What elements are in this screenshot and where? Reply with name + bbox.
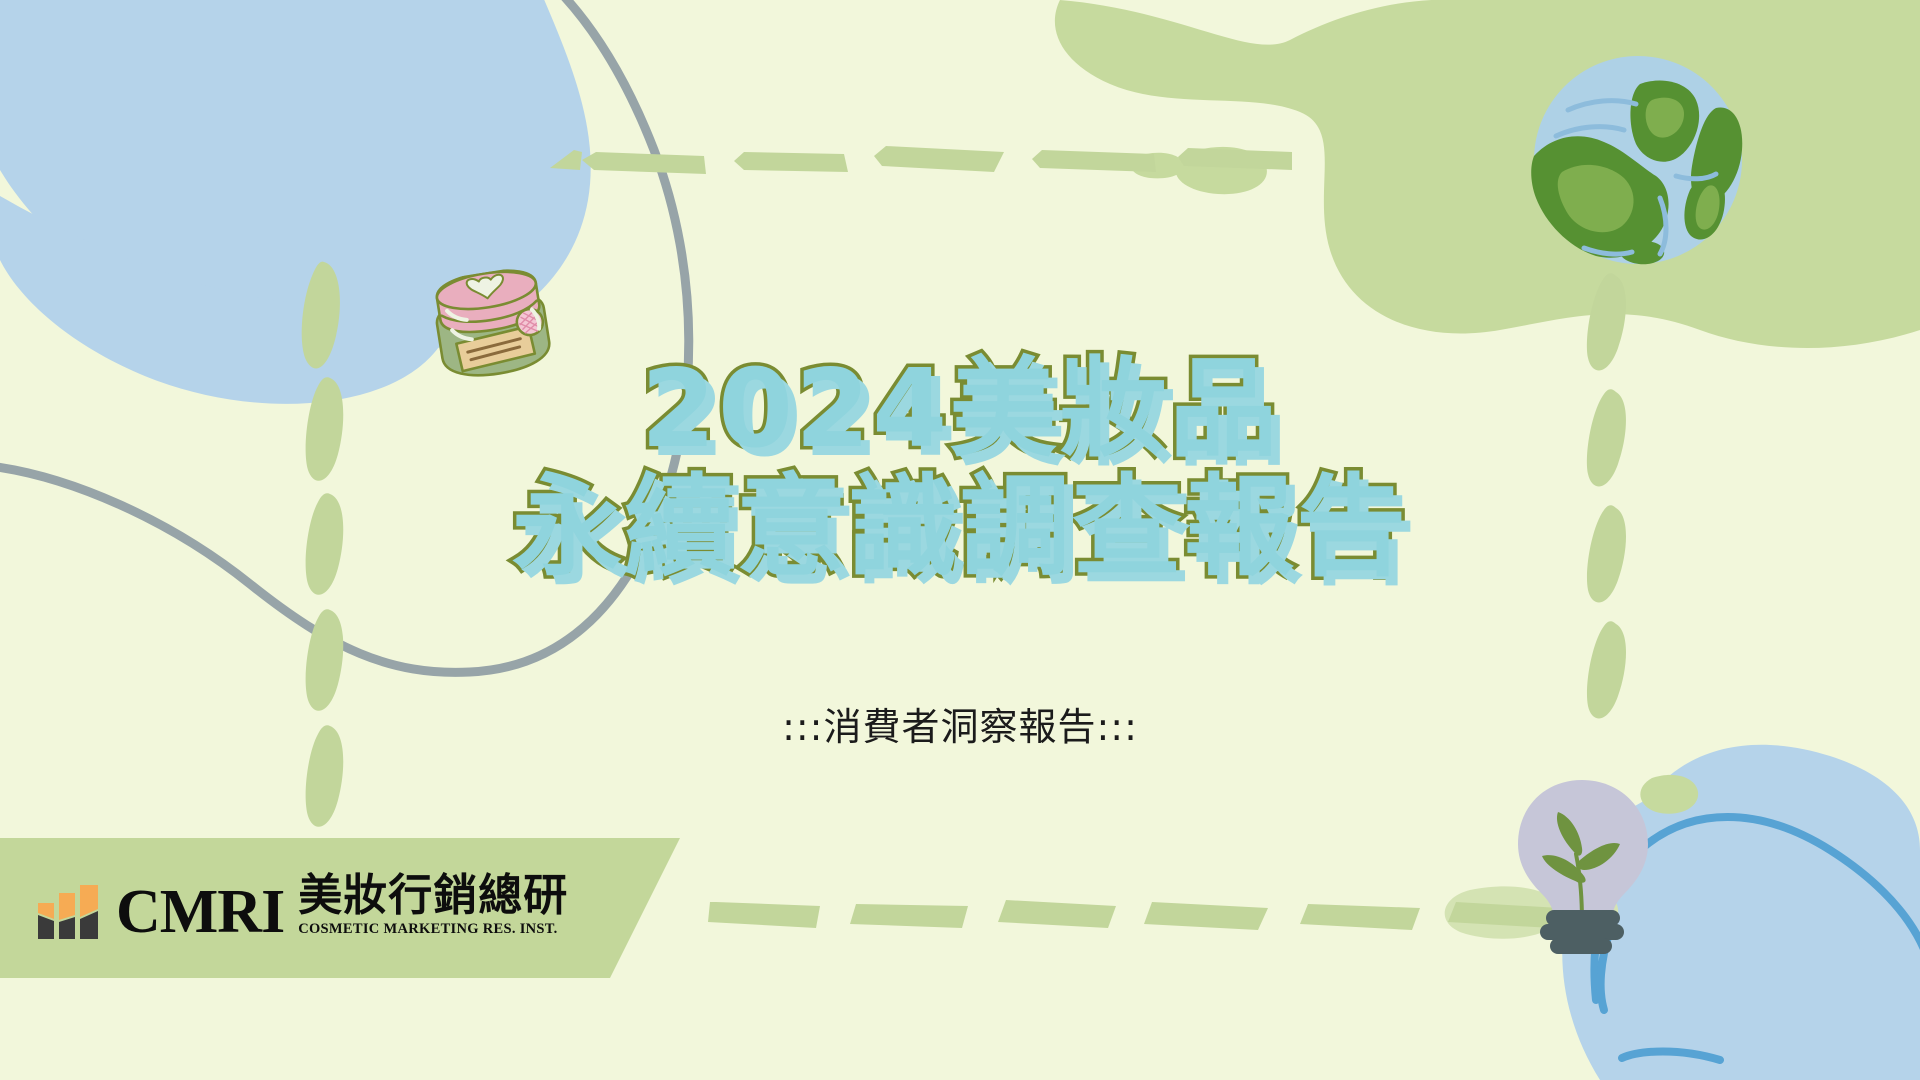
logo-name-block: 美妝行銷總研 COSMETIC MARKETING RES. INST. [298,874,568,939]
logo-english-name: COSMETIC MARKETING RES. INST. [298,920,557,939]
globe-icon [1520,48,1760,278]
bulb-base [1540,910,1624,954]
dash-bottom-1 [708,902,820,928]
bar-2-base [59,917,75,939]
dash-bottom-4 [1144,902,1268,930]
title-line-2: 永續意識調查報告 [0,472,1920,582]
logo-chinese-name: 美妝行銷總研 [298,874,568,918]
dash-left-1 [302,262,340,369]
cmri-logo: CMRI 美妝行銷總研 COSMETIC MARKETING RES. INST… [36,874,568,939]
dash-bottom-5 [1300,904,1420,930]
logo-band: CMRI 美妝行銷總研 COSMETIC MARKETING RES. INST… [0,838,680,978]
slide-title: 2024美妝品 永續意識調查報告 [0,356,1920,582]
dash-top-5 [1178,148,1292,170]
bar-2-top [59,893,75,920]
bar-1-base [38,915,54,939]
title-line-1: 2024美妝品 [0,356,1920,464]
lightbulb-plant-icon [1496,778,1676,958]
slide-subtitle: :::消費者洞察報告::: [0,696,1920,751]
dash-top-4 [1032,150,1156,172]
bar-chart-icon [36,879,102,939]
dash-top-1 [582,152,706,174]
dash-top-6 [550,150,582,170]
report-cover-slide: 2024美妝品 永續意識調查報告 :::消費者洞察報告::: CMRI 美妝行銷… [0,0,1920,1080]
dash-top-3 [874,146,1004,172]
dash-bottom-3 [998,900,1116,928]
logo-acronym: CMRI [116,886,284,939]
dash-bottom-2 [850,904,968,928]
dash-top-2 [734,152,848,172]
